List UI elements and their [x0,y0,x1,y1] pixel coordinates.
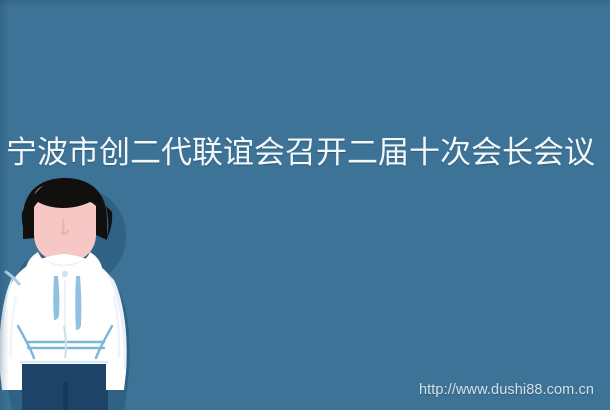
drawstring-left [53,276,59,320]
hood-eyelet [62,271,68,277]
person-illustration [0,176,154,410]
site-watermark: http://www.dushi88.com.cn [419,381,594,399]
article-thumbnail-image: 宁波市创二代联谊会召开二届十次会长会议 http://www.dushi88.c… [0,0,610,410]
drawstring-right [75,276,81,330]
page-title: 宁波市创二代联谊会召开二届十次会长会议 [6,134,610,172]
